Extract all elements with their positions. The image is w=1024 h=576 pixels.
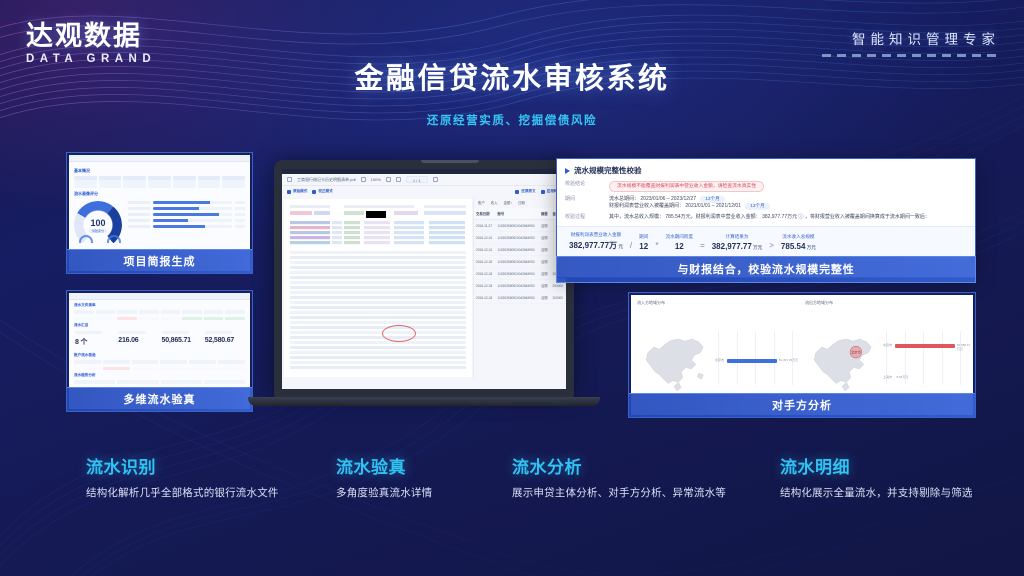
mode-switch-bar[interactable]: 原始模式 校正模式 还原原文 应用转换: [282, 186, 566, 197]
feature-title-2: 流水分析: [512, 453, 726, 478]
report-bar-item: [128, 207, 245, 210]
formula-term: 计算结果为382,977.77 万元: [712, 234, 763, 251]
next-page-icon[interactable]: [433, 177, 438, 182]
verify-stat-item: 216.06: [118, 331, 157, 347]
formula-term-value: 382,977.77万 元: [569, 240, 623, 251]
popup-conclusion-row: 校验结论 流水规模不能覆盖财报利润表中营业收入金额，请检查流水真实性: [565, 181, 967, 192]
card-caption-verify: 多维流水验真: [67, 387, 252, 411]
formula-term: 期间12: [639, 234, 648, 251]
pdf-page-render: [284, 199, 472, 377]
verify-chart-header: [69, 380, 250, 384]
expand-triangle-icon[interactable]: [565, 168, 570, 174]
conclusion-value: 流水规模不能覆盖财报利润表中营业收入金额，请检查流水真实性: [609, 181, 764, 192]
table-row[interactable]: 2016-12-01110202650510042664900活期: [474, 244, 566, 256]
process-text: 其中，流水总收入规模： 785.54万元，财报利润表中营业收入金额： 382,9…: [609, 214, 930, 222]
inflow-bar-label: 北京市: [715, 358, 724, 362]
card-caption-counterparty: 对手方分析: [629, 393, 975, 417]
zoom-out-icon[interactable]: [361, 177, 366, 182]
formula-term: 流水收入总规模785.54 万元: [781, 234, 816, 251]
page-subtitle: 还原经营实质、挖掘偿债风险: [0, 112, 1024, 128]
verify-stat-label: [162, 331, 189, 334]
inflow-bar-value: 51,397.25万元: [779, 358, 798, 362]
report-gauge-area: 100 风险评分: [69, 199, 250, 233]
report-section-title: 基本情况: [74, 168, 245, 174]
card-caption-report: 项目简报生成: [67, 249, 252, 273]
table-cell-1: 110202650510042664900: [496, 280, 539, 292]
formula-term: 财报利润表营业收入金额382,977.77万 元: [569, 232, 623, 251]
transaction-table: 交易日期 账号 摘要 金额 2016-11-271102026505100426…: [474, 208, 566, 304]
report-bar-list: [128, 201, 245, 231]
annotation-circle: [382, 325, 416, 342]
formula-term-label: 流水期间跨度: [665, 234, 693, 240]
table-cell-1: 110202650510042664900: [496, 292, 539, 304]
verify-section-title: 流水文件清单: [74, 303, 245, 308]
period-range-1: 流水总期间： 2023/01/06 – 2023/12/27: [609, 196, 696, 202]
verify-detail-title: 账户流水核验: [74, 353, 245, 358]
table-cell-2: 活期: [539, 232, 550, 244]
inflow-bar[interactable]: [727, 359, 777, 363]
transaction-table-body: 2016-11-27110202650510042664900活期2016-12…: [474, 220, 566, 304]
laptop-mockup: 工商银行借记卡历史明细清单.pdf 100% 1 / 1 原始模式 校正模式 还…: [274, 160, 574, 418]
prev-page-icon[interactable]: [396, 177, 401, 182]
mode-corrected[interactable]: 校正模式: [312, 189, 332, 194]
popup-title-row: 流水规模完整性校验: [565, 165, 967, 176]
verify-detail-header: [69, 360, 250, 364]
feature-block-0: 流水识别 结构化解析几乎全部格式的银行流水文件: [86, 453, 279, 500]
redaction-box: [366, 211, 386, 218]
screenshot-card-counterparty[interactable]: 流入方地域分布 北京市 51,397.25万元: [628, 292, 976, 418]
page-indicator[interactable]: 1 / 1: [406, 176, 428, 183]
feature-desc-2: 展示申贷主体分析、对手方分析、异常流水等: [512, 485, 726, 500]
col-summary[interactable]: 摘要: [539, 208, 550, 220]
apply-icon: [541, 190, 545, 194]
table-cell-0: 2016-11-27: [474, 220, 496, 232]
outflow-bar-value: 52,580.67万元: [957, 343, 970, 351]
mode-original-icon: [287, 190, 291, 194]
report-bar-item: [128, 213, 245, 216]
restore-icon: [515, 190, 519, 194]
formula-term-value: 12: [665, 242, 693, 251]
formula-term-label: 期间: [639, 234, 648, 240]
outflow-title: 流出方地域分布: [805, 300, 967, 306]
laptop-base: [248, 397, 600, 406]
verify-stat-value: 8 个: [75, 337, 114, 347]
mode-corrected-icon: [312, 190, 316, 194]
verify-stat-item: 52,580.67: [205, 331, 244, 347]
formula-operator: /: [630, 241, 632, 251]
feature-title-3: 流水明细: [780, 453, 973, 478]
report-table-row: [74, 184, 245, 188]
table-row[interactable]: 2016-12-03110202650510042664900活期200000: [474, 268, 566, 280]
highlight-marker-label: 北京市: [851, 350, 862, 355]
feature-block-1: 流水验真 多角度验真流水详情: [336, 453, 432, 500]
china-map-inflow[interactable]: [637, 331, 711, 393]
table-cell-2: 活期: [539, 292, 550, 304]
pdf-file-name: 工商银行借记卡历史明细清单.pdf: [297, 177, 356, 183]
col-account[interactable]: 账号: [496, 208, 539, 220]
tagline-text: 智能知识管理专家: [822, 28, 1000, 48]
table-cell-2: 活期: [539, 244, 550, 256]
mock-window-header: [69, 155, 250, 162]
mode-original[interactable]: 原始模式: [287, 189, 307, 194]
verify-stat-value: 52,580.67: [205, 337, 244, 344]
calculation-formula: 财报利润表营业收入金额382,977.77万 元/期间12*流水期间跨度12=计…: [557, 226, 975, 257]
process-label: 校验过程: [565, 214, 603, 222]
verify-table-row: [69, 314, 250, 321]
formula-term-value: 785.54 万元: [781, 242, 816, 251]
feature-title-0: 流水识别: [86, 453, 279, 478]
transaction-table-pane[interactable]: 账户 收入 金额↑ 日期 交易日期 账号 摘要 金额: [474, 197, 566, 379]
inflow-title: 流入方地域分布: [637, 300, 799, 306]
verify-summary-title: 流水汇总: [74, 323, 245, 328]
table-cell-0: 2016-12-03: [474, 280, 496, 292]
feature-block-2: 流水分析 展示申贷主体分析、对手方分析、异常流水等: [512, 453, 726, 500]
feature-block-3: 流水明细 结构化展示全量流水，并支持剔除与筛选: [780, 453, 973, 500]
period-range-2: 财报利润表营业收入被覆盖期间： 2021/01/01 – 2021/12/01: [609, 203, 741, 209]
mini-gauge-icon: [107, 235, 121, 243]
formula-operator: =: [700, 241, 705, 251]
feature-title-1: 流水验真: [336, 453, 432, 478]
verify-stat-item: 8 个: [75, 331, 114, 347]
pdf-toolbar[interactable]: 工商银行借记卡历史明细清单.pdf 100% 1 / 1: [282, 174, 566, 186]
popup-process-row: 校验过程 其中，流水总收入规模： 785.54万元，财报利润表中营业收入金额： …: [565, 214, 967, 222]
table-filter-bar[interactable]: 账户 收入 金额↑ 日期: [474, 197, 566, 208]
action-restore[interactable]: 还原原文: [515, 189, 535, 194]
period-chip-2[interactable]: 12个月: [745, 203, 769, 210]
tagline: 智能知识管理专家: [822, 28, 1000, 57]
outflow-bar-label: 北京市: [883, 343, 892, 347]
formula-term-label: 财报利润表营业收入金额: [569, 232, 623, 238]
table-row[interactable]: 2016-12-02110202650510042664900活期: [474, 256, 566, 268]
slide-root: 达观数据 DATA GRAND 智能知识管理专家 金融信贷流水审核系统 还原经营…: [0, 0, 1024, 576]
screenshot-card-report[interactable]: 基本情况 流水画像评分 100 风险评分: [66, 152, 253, 274]
mock-window-header: [69, 293, 250, 300]
formula-term-value: 12: [639, 242, 648, 251]
zoom-in-icon[interactable]: [386, 177, 391, 182]
outflow-bar[interactable]: [895, 344, 955, 348]
table-cell-1: 110202650510042664900: [496, 268, 539, 280]
page-title: 金融信贷流水审核系统: [0, 55, 1024, 97]
period-line-2: 财报利润表营业收入被覆盖期间： 2021/01/01 – 2021/12/01 …: [609, 203, 770, 211]
filter-amount[interactable]: 金额↑: [504, 200, 512, 205]
laptop-notch: [421, 160, 479, 163]
table-cell-1: 110202650510042664900: [496, 256, 539, 268]
formula-term-label: 流水收入总规模: [781, 234, 816, 240]
mini-gauge-icon: [79, 235, 93, 243]
formula-operator: *: [655, 241, 658, 251]
table-row[interactable]: 2016-12-03110202650510042664900活期200000: [474, 292, 566, 304]
table-cell-2: 活期: [539, 220, 550, 232]
verify-chart-title: 流水趋势分析: [74, 373, 245, 378]
verify-stat-value: 216.06: [118, 337, 157, 344]
mode-original-label: 原始模式: [293, 189, 307, 194]
report-body: 基本情况 流水画像评分: [69, 162, 250, 197]
table-cell-1: 110202650510042664900: [496, 232, 539, 244]
table-cell-0: 2016-12-03: [474, 268, 496, 280]
popup-caption: 与财报结合，校验流水规模完整性: [556, 256, 976, 283]
gauge-value: 100: [74, 218, 122, 228]
table-cell-0: 2016-12-03: [474, 292, 496, 304]
feature-desc-0: 结构化解析几乎全部格式的银行流水文件: [86, 485, 279, 500]
table-cell-2: 活期: [539, 268, 550, 280]
table-cell-2: 活期: [539, 280, 550, 292]
popup-period-row: 期间 流水总期间： 2023/01/06 – 2023/12/27 12个月 财…: [565, 196, 967, 211]
formula-term-value: 382,977.77 万元: [712, 242, 763, 251]
action-restore-label: 还原原文: [521, 189, 535, 194]
table-row[interactable]: 2016-11-27110202650510042664900活期: [474, 220, 566, 232]
conclusion-label: 校验结论: [565, 181, 603, 192]
screenshot-card-verify[interactable]: 流水文件清单 流水汇总 8 个 216.06: [66, 290, 253, 412]
formula-operator: >: [769, 241, 774, 251]
report-section-title-2: 流水画像评分: [74, 191, 245, 197]
verify-stat-item: 50,865.71: [162, 331, 201, 347]
conclusion-alert-badge: 流水规模不能覆盖财报利润表中营业收入金额，请检查流水真实性: [609, 181, 764, 192]
feature-desc-1: 多角度验真流水详情: [336, 485, 432, 500]
table-cell-0: 2016-12-01: [474, 244, 496, 256]
report-bar-item: [128, 225, 245, 228]
table-cell-2: 活期: [539, 256, 550, 268]
table-cell-1: 110202650510042664900: [496, 244, 539, 256]
verify-detail-row: [69, 364, 250, 371]
table-header-row: 交易日期 账号 摘要 金额: [474, 208, 566, 220]
filter-income[interactable]: 收入: [491, 200, 498, 205]
table-cell-0: 2016-12-01: [474, 232, 496, 244]
laptop-lid: 工商银行借记卡历史明细清单.pdf 100% 1 / 1 原始模式 校正模式 还…: [274, 160, 574, 398]
laptop-content: 账户 收入 金额↑ 日期 交易日期 账号 摘要 金额: [282, 197, 566, 379]
period-values: 流水总期间： 2023/01/06 – 2023/12/27 12个月 财报利润…: [609, 196, 770, 211]
period-chip-1[interactable]: 12个月: [700, 196, 724, 203]
verify-stats-row: 8 个 216.06 50,865.71 52,580.67: [69, 330, 250, 350]
mode-corrected-label: 校正模式: [318, 189, 332, 194]
laptop-screen[interactable]: 工商银行借记卡历史明细清单.pdf 100% 1 / 1 原始模式 校正模式 还…: [282, 169, 566, 389]
filter-account[interactable]: 账户: [478, 200, 485, 205]
popup-title: 流水规模完整性校验: [574, 165, 642, 176]
outflow-bar2-value: 8.66万元: [896, 375, 908, 379]
table-row[interactable]: 2016-12-01110202650510042664900活期: [474, 232, 566, 244]
report-bar-item: [128, 219, 245, 222]
outflow-bar2-label: 上海市: [883, 375, 892, 379]
period-label: 期间: [565, 196, 603, 211]
zoom-level[interactable]: 100%: [371, 177, 381, 182]
brand-name-cn: 达观数据: [26, 22, 156, 50]
verify-stat-label: [205, 331, 232, 334]
verify-stat-value: 50,865.71: [162, 337, 201, 344]
table-cell-3: 200000: [550, 292, 566, 304]
col-date[interactable]: 交易日期: [474, 208, 496, 220]
gauge-pill-label: 风险评分: [89, 229, 107, 233]
formula-term-label: 计算结果为: [712, 234, 763, 240]
table-row[interactable]: 2016-12-03110202650510042664900活期200000: [474, 280, 566, 292]
feature-desc-3: 结构化展示全量流水，并支持剔除与筛选: [780, 485, 973, 500]
filter-date[interactable]: 日期: [518, 200, 525, 205]
back-icon[interactable]: [287, 177, 292, 182]
pdf-preview-pane[interactable]: [282, 197, 474, 379]
inflow-bar-chart: 北京市 51,397.25万元: [715, 331, 799, 393]
verify-stat-label: [118, 331, 145, 334]
outflow-bar-chart: 北京市 52,580.67万元 上海市 8.66万元: [883, 331, 967, 393]
china-map-outflow[interactable]: 北京市: [805, 331, 879, 393]
formula-term: 流水期间跨度12: [665, 234, 693, 251]
score-gauge: 100 风险评分: [74, 201, 122, 231]
table-cell-0: 2016-12-02: [474, 256, 496, 268]
report-bar-item: [128, 201, 245, 204]
table-cell-1: 110202650510042664900: [496, 220, 539, 232]
verify-stat-label: [75, 331, 102, 334]
